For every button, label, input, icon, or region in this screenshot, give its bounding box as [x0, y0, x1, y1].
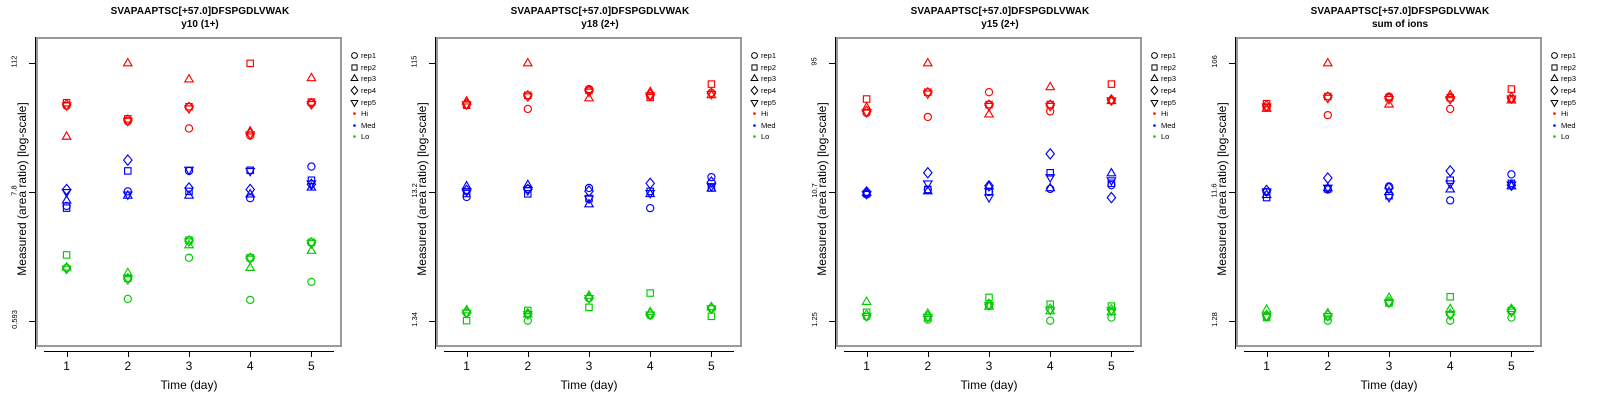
legend-label: rep3	[1561, 73, 1576, 84]
x-tick-mark	[1511, 351, 1512, 357]
y-tick-mark	[29, 321, 35, 322]
dot-icon	[348, 120, 361, 131]
y-tick-mark	[829, 63, 835, 64]
panel-2: SVAPAAPTSC[+57.0]DFSPGDLVWAKy18 (2+)1151…	[400, 0, 800, 400]
circle-icon	[1548, 50, 1561, 61]
x-tick-label: 5	[1096, 359, 1126, 373]
legend-item-rep3[interactable]: rep3	[748, 73, 800, 85]
legend-item-rep4[interactable]: rep4	[1548, 85, 1600, 97]
multi-panel-scatter-figure: SVAPAAPTSC[+57.0]DFSPGDLVWAKy10 (1+)1127…	[0, 0, 1600, 400]
dot-icon	[348, 131, 361, 142]
x-tick-label: 4	[235, 359, 265, 373]
dot-icon	[748, 108, 761, 119]
legend-item-med[interactable]: Med	[348, 120, 400, 132]
legend-item-hi[interactable]: Hi	[1548, 108, 1600, 120]
panel-title-block: SVAPAAPTSC[+57.0]DFSPGDLVWAKy15 (2+)	[800, 5, 1200, 31]
legend-label: rep2	[1161, 62, 1176, 73]
legend-label: Med	[361, 120, 376, 131]
x-tick-mark	[128, 351, 129, 357]
diamond-icon	[1148, 85, 1161, 96]
dot-icon	[1548, 108, 1561, 119]
x-tick-label: 2	[113, 359, 143, 373]
x-tick-mark	[67, 351, 68, 357]
x-axis-title: Time (day)	[436, 378, 742, 392]
x-tick-label: 3	[174, 359, 204, 373]
panel-subtitle: sum of ions	[1200, 18, 1600, 31]
x-tick-label: 2	[1313, 359, 1343, 373]
plot-frame	[436, 37, 742, 347]
x-tick-mark	[1328, 351, 1329, 357]
panel-title: SVAPAAPTSC[+57.0]DFSPGDLVWAK	[800, 5, 1200, 18]
legend-item-lo[interactable]: Lo	[1548, 131, 1600, 143]
x-tick-label: 5	[296, 359, 326, 373]
panel-title-block: SVAPAAPTSC[+57.0]DFSPGDLVWAKy10 (1+)	[0, 5, 400, 31]
legend-label: rep3	[361, 73, 376, 84]
legend-label: Lo	[1161, 131, 1169, 142]
diamond-icon	[748, 85, 761, 96]
legend-label: rep3	[1161, 73, 1176, 84]
legend-item-rep4[interactable]: rep4	[348, 85, 400, 97]
x-tick-mark	[467, 351, 468, 357]
y-tick-mark	[29, 63, 35, 64]
y-tick-mark	[829, 321, 835, 322]
panel-3: SVAPAAPTSC[+57.0]DFSPGDLVWAKy15 (2+)9510…	[800, 0, 1200, 400]
legend-label: Lo	[361, 131, 369, 142]
y-tick-mark	[429, 63, 435, 64]
y-axis-title: Measured (area ratio) [log-scale]	[1215, 64, 1229, 314]
panel-subtitle: y18 (2+)	[400, 18, 800, 31]
x-tick-mark	[189, 351, 190, 357]
legend-item-rep1[interactable]: rep1	[748, 50, 800, 62]
y-tick-mark	[1229, 192, 1235, 193]
panel-title: SVAPAAPTSC[+57.0]DFSPGDLVWAK	[400, 5, 800, 18]
y-axis-title: Measured (area ratio) [log-scale]	[15, 64, 29, 314]
legend-item-rep1[interactable]: rep1	[1548, 50, 1600, 62]
x-tick-mark	[1267, 351, 1268, 357]
legend-item-rep4[interactable]: rep4	[748, 85, 800, 97]
legend-label: Lo	[761, 131, 769, 142]
legend-item-lo[interactable]: Lo	[348, 131, 400, 143]
legend-label: Lo	[1561, 131, 1569, 142]
legend-item-rep4[interactable]: rep4	[1148, 85, 1200, 97]
y-tick-mark	[1229, 63, 1235, 64]
legend-item-rep5[interactable]: rep5	[348, 96, 400, 108]
x-tick-mark	[989, 351, 990, 357]
panel-title: SVAPAAPTSC[+57.0]DFSPGDLVWAK	[1200, 5, 1600, 18]
y-axis-line	[835, 37, 836, 349]
x-tick-label: 5	[696, 359, 726, 373]
x-tick-label: 3	[574, 359, 604, 373]
legend-label: rep5	[361, 97, 376, 108]
triangle-up-icon	[1148, 73, 1161, 84]
dot-icon	[748, 131, 761, 142]
y-tick-label: 1.25	[800, 315, 828, 324]
y-tick-mark	[29, 192, 35, 193]
legend-label: rep1	[1561, 50, 1576, 61]
dot-icon	[1548, 131, 1561, 142]
dot-icon	[748, 120, 761, 131]
y-tick-value: 1.28	[1209, 312, 1218, 327]
panel-title-block: SVAPAAPTSC[+57.0]DFSPGDLVWAKsum of ions	[1200, 5, 1600, 31]
plot-frame	[1236, 37, 1542, 347]
legend-label: rep2	[761, 62, 776, 73]
y-tick-label: 1.34	[400, 315, 428, 324]
legend-item-lo[interactable]: Lo	[748, 131, 800, 143]
triangle-down-icon	[348, 97, 361, 108]
triangle-up-icon	[748, 73, 761, 84]
square-icon	[348, 62, 361, 73]
legend-item-lo[interactable]: Lo	[1148, 131, 1200, 143]
legend-item-rep3[interactable]: rep3	[1148, 73, 1200, 85]
y-tick-label: 1.28	[1200, 315, 1228, 324]
legend-item-rep3[interactable]: rep3	[1548, 73, 1600, 85]
x-axis-title: Time (day)	[36, 378, 342, 392]
legend-label: rep1	[361, 50, 376, 61]
legend-item-hi[interactable]: Hi	[1148, 108, 1200, 120]
x-tick-label: 4	[635, 359, 665, 373]
legend-label: rep1	[761, 50, 776, 61]
y-tick-value: 1.34	[409, 312, 418, 327]
x-tick-mark	[711, 351, 712, 357]
plot-frame	[836, 37, 1142, 347]
panel-subtitle: y15 (2+)	[800, 18, 1200, 31]
legend-item-rep2[interactable]: rep2	[748, 62, 800, 74]
legend-label: rep2	[1561, 62, 1576, 73]
x-tick-label: 4	[1435, 359, 1465, 373]
legend: rep1rep2rep3rep4rep5HiMedLo	[1148, 50, 1200, 143]
legend-item-rep2[interactable]: rep2	[1148, 62, 1200, 74]
legend-label: rep4	[361, 85, 376, 96]
x-tick-mark	[1050, 351, 1051, 357]
x-tick-mark	[589, 351, 590, 357]
y-axis-line	[1235, 37, 1236, 349]
legend-item-hi[interactable]: Hi	[748, 108, 800, 120]
dot-icon	[1548, 120, 1561, 131]
legend-label: Med	[1161, 120, 1176, 131]
legend: rep1rep2rep3rep4rep5HiMedLo	[748, 50, 800, 143]
x-tick-mark	[650, 351, 651, 357]
circle-icon	[748, 50, 761, 61]
panel-1: SVAPAAPTSC[+57.0]DFSPGDLVWAKy10 (1+)1127…	[0, 0, 400, 400]
legend-label: Hi	[1161, 108, 1168, 119]
legend-item-rep5[interactable]: rep5	[1148, 96, 1200, 108]
y-tick-label: 0.593	[0, 315, 28, 324]
y-tick-mark	[1229, 321, 1235, 322]
x-axis-title: Time (day)	[836, 378, 1142, 392]
legend-item-hi[interactable]: Hi	[348, 108, 400, 120]
legend-label: rep4	[761, 85, 776, 96]
legend-item-rep3[interactable]: rep3	[348, 73, 400, 85]
y-axis-line	[35, 37, 36, 349]
x-tick-label: 4	[1035, 359, 1065, 373]
legend: rep1rep2rep3rep4rep5HiMedLo	[348, 50, 400, 143]
legend-label: Med	[1561, 120, 1576, 131]
legend-label: Hi	[1561, 108, 1568, 119]
legend: rep1rep2rep3rep4rep5HiMedLo	[1548, 50, 1600, 143]
diamond-icon	[1548, 85, 1561, 96]
dot-icon	[1148, 108, 1161, 119]
square-icon	[1148, 62, 1161, 73]
legend-label: rep1	[1161, 50, 1176, 61]
y-tick-value: 1.25	[809, 312, 818, 327]
x-tick-label: 1	[452, 359, 482, 373]
x-tick-label: 1	[852, 359, 882, 373]
legend-item-rep2[interactable]: rep2	[1548, 62, 1600, 74]
legend-label: rep5	[1561, 97, 1576, 108]
x-tick-mark	[1450, 351, 1451, 357]
legend-item-rep5[interactable]: rep5	[748, 96, 800, 108]
triangle-up-icon	[348, 73, 361, 84]
x-tick-mark	[1111, 351, 1112, 357]
y-axis-line	[435, 37, 436, 349]
panel-subtitle: y10 (1+)	[0, 18, 400, 31]
x-tick-label: 1	[1252, 359, 1282, 373]
dot-icon	[1148, 120, 1161, 131]
x-tick-mark	[311, 351, 312, 357]
x-tick-label: 5	[1496, 359, 1526, 373]
legend-label: rep5	[1161, 97, 1176, 108]
triangle-down-icon	[1148, 97, 1161, 108]
square-icon	[1548, 62, 1561, 73]
panel-4: SVAPAAPTSC[+57.0]DFSPGDLVWAKsum of ions1…	[1200, 0, 1600, 400]
panel-title-block: SVAPAAPTSC[+57.0]DFSPGDLVWAKy18 (2+)	[400, 5, 800, 31]
legend-label: rep3	[761, 73, 776, 84]
x-tick-mark	[928, 351, 929, 357]
legend-item-med[interactable]: Med	[1148, 120, 1200, 132]
y-axis-title: Measured (area ratio) [log-scale]	[815, 64, 829, 314]
legend-label: Hi	[761, 108, 768, 119]
circle-icon	[348, 50, 361, 61]
square-icon	[748, 62, 761, 73]
y-tick-mark	[429, 321, 435, 322]
dot-icon	[348, 108, 361, 119]
y-tick-mark	[429, 192, 435, 193]
x-tick-mark	[528, 351, 529, 357]
triangle-up-icon	[1548, 73, 1561, 84]
plot-frame	[36, 37, 342, 347]
panel-title: SVAPAAPTSC[+57.0]DFSPGDLVWAK	[0, 5, 400, 18]
legend-label: rep4	[1161, 85, 1176, 96]
dot-icon	[1148, 131, 1161, 142]
legend-item-med[interactable]: Med	[1548, 120, 1600, 132]
legend-label: rep5	[761, 97, 776, 108]
legend-item-rep1[interactable]: rep1	[1148, 50, 1200, 62]
legend-item-rep1[interactable]: rep1	[348, 50, 400, 62]
legend-label: Med	[761, 120, 776, 131]
legend-label: Hi	[361, 108, 368, 119]
y-axis-title: Measured (area ratio) [log-scale]	[415, 64, 429, 314]
x-tick-mark	[1389, 351, 1390, 357]
x-tick-label: 2	[513, 359, 543, 373]
y-tick-mark	[829, 192, 835, 193]
x-tick-label: 2	[913, 359, 943, 373]
legend-item-rep2[interactable]: rep2	[348, 62, 400, 74]
x-axis-title: Time (day)	[1236, 378, 1542, 392]
circle-icon	[1148, 50, 1161, 61]
x-tick-label: 3	[1374, 359, 1404, 373]
legend-item-med[interactable]: Med	[748, 120, 800, 132]
legend-item-rep5[interactable]: rep5	[1548, 96, 1600, 108]
x-tick-mark	[867, 351, 868, 357]
triangle-down-icon	[1548, 97, 1561, 108]
x-tick-label: 3	[974, 359, 1004, 373]
diamond-icon	[348, 85, 361, 96]
legend-label: rep2	[361, 62, 376, 73]
x-tick-label: 1	[52, 359, 82, 373]
legend-label: rep4	[1561, 85, 1576, 96]
x-tick-mark	[250, 351, 251, 357]
triangle-down-icon	[748, 97, 761, 108]
